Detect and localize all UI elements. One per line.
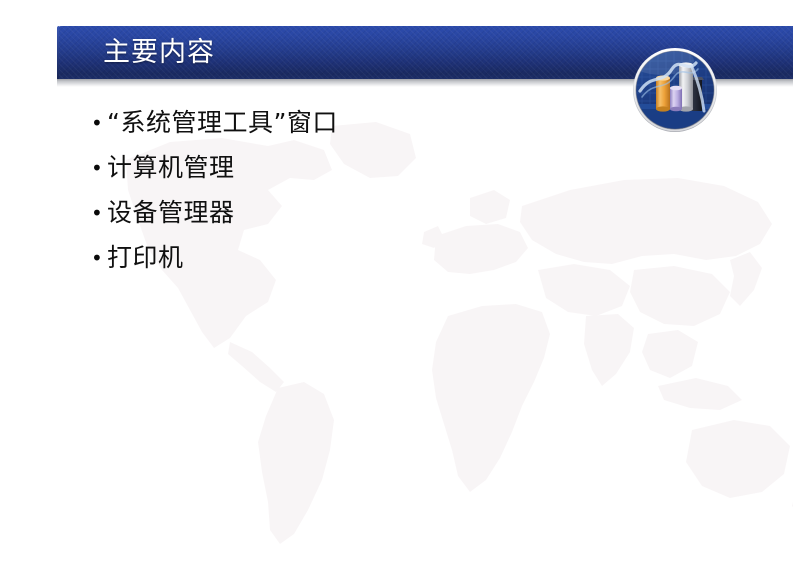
list-item: • 计算机管理 (88, 149, 648, 194)
list-item: • “系统管理工具”窗口 (88, 104, 648, 149)
list-item: • 打印机 (88, 239, 648, 284)
presentation-slide: 主要内容 (0, 0, 793, 561)
bullet-marker-icon: • (88, 104, 107, 142)
list-item-label: “系统管理工具”窗口 (107, 104, 338, 142)
banner-left-edge (57, 26, 59, 79)
list-item: • 设备管理器 (88, 194, 648, 239)
bullet-marker-icon: • (88, 149, 107, 187)
list-item-label: 计算机管理 (107, 149, 235, 187)
bullet-marker-icon: • (88, 194, 107, 232)
bullet-list: • “系统管理工具”窗口 • 计算机管理 • 设备管理器 • 打印机 (88, 104, 648, 284)
list-item-label: 打印机 (107, 239, 184, 277)
bullet-marker-icon: • (88, 239, 107, 277)
list-item-label: 设备管理器 (107, 194, 235, 232)
page-title: 主要内容 (103, 35, 215, 70)
